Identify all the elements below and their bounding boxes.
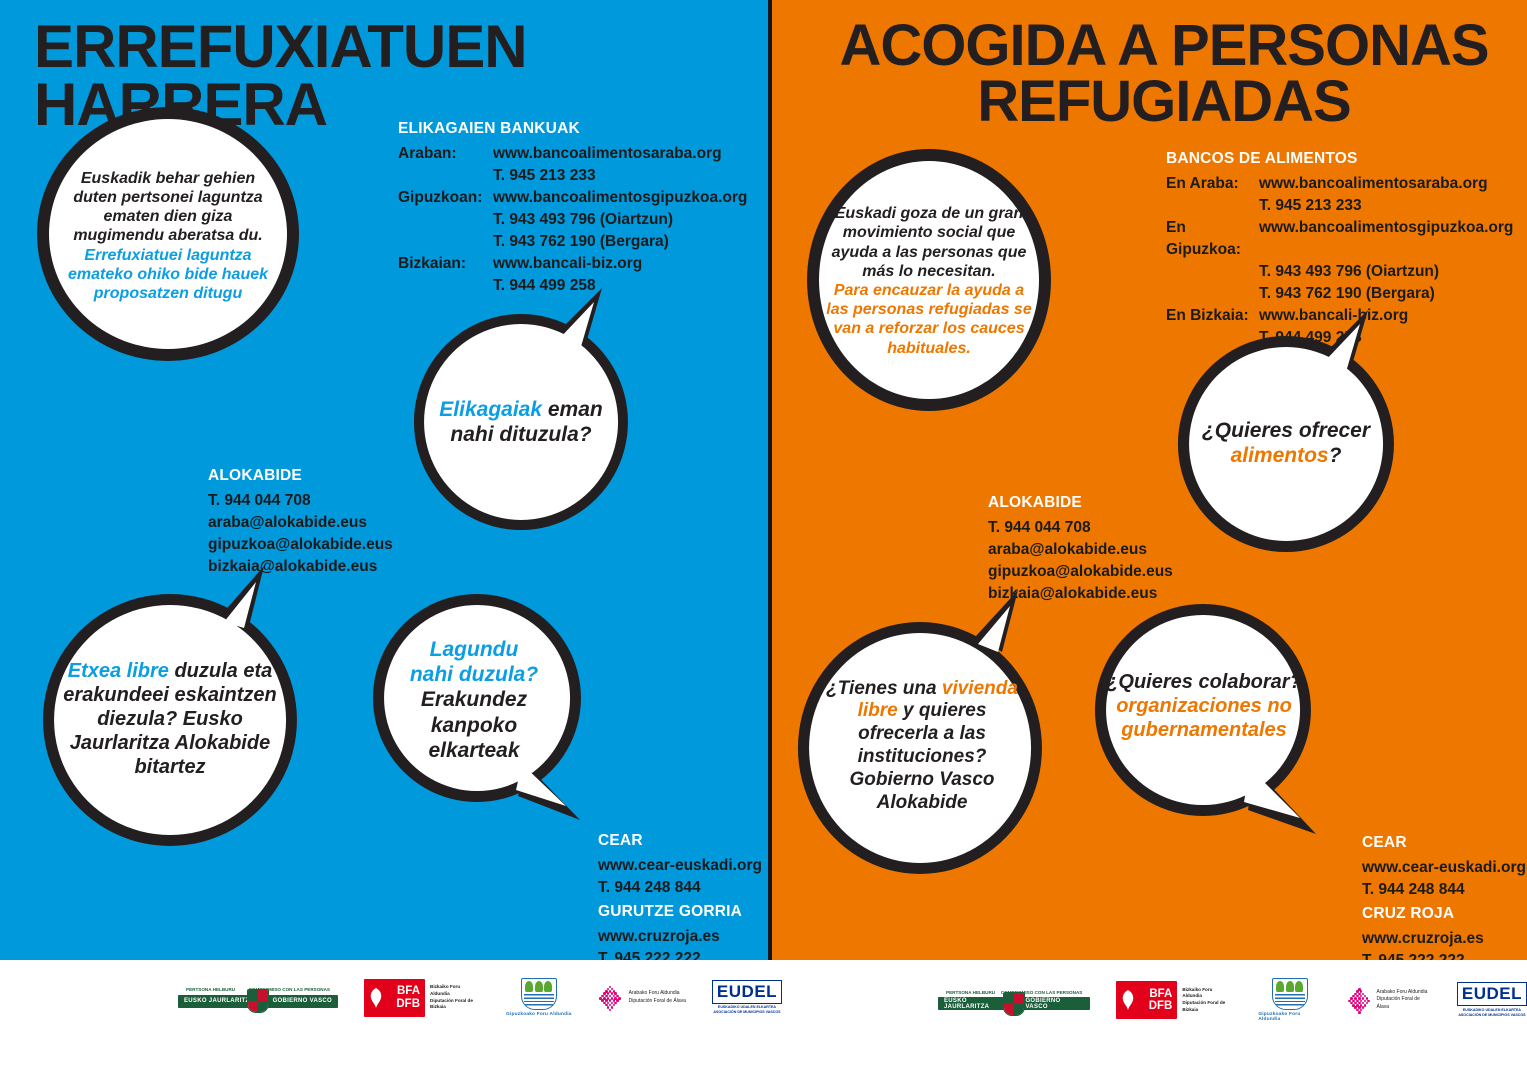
housing-accent: Etxea libre [68, 660, 169, 682]
gipuzkoa-caption: Gipuzkoako Foru Aldundia [1258, 1012, 1321, 1022]
contact-row: Bizkaian: www.bancali-biz.org [398, 253, 758, 275]
logo-strip-left: PERTSONA HELBURU COMPROMISO CON LAS PERS… [178, 978, 782, 1017]
alokabide-phone: T. 944 044 708 [208, 490, 393, 512]
cear-contacts-spanish: CEAR www.cear-euskadi.org T. 944 248 844… [1362, 832, 1526, 960]
redcross-phone: T. 945 222 222 [1362, 950, 1526, 960]
contact-url[interactable]: www.bancali-biz.org [1259, 305, 1527, 327]
food-bubble-plain: ¿Quieres ofrecer [1202, 418, 1370, 443]
poster-root: ERREFUXIATUEN HARRERA Euskadik behar geh… [0, 0, 1527, 1080]
contact-row: En Bizkaia: www.bancali-biz.org [1166, 305, 1527, 327]
contact-url[interactable]: www.bancoalimentosaraba.org [1259, 173, 1527, 195]
contact-phone: T. 943 762 190 (Bergara) [398, 231, 758, 253]
bfa-mark-text: BFA DFB [1149, 988, 1173, 1012]
contact-label: En Araba: [1166, 173, 1259, 195]
eudel-sub-2: ASOCIACIÓN DE MUNICIPIOS VASCOS [713, 1010, 780, 1015]
food-bubble-line2: nahi dituzula? [450, 422, 591, 447]
intro-bubble-spanish: Euskadi goza de un gran movimiento socia… [804, 146, 1054, 414]
bfa-mark-icon: BFA DFB [1116, 981, 1177, 1019]
contact-phone: T. 943 493 796 (Oiartzun) [1166, 261, 1527, 283]
alokabide-email-gipuzkoa[interactable]: gipuzkoa@alokabide.eus [208, 534, 393, 556]
logo-gipuzkoa: Gipuzkoako Foru Aldundia [1258, 978, 1321, 1022]
food-bank-contacts-spanish: BANCOS DE ALIMENTOS En Araba: www.bancoa… [1166, 148, 1527, 349]
help-bubble-basque: Lagundu nahi duzula? Erakundez kanpoko e… [370, 588, 594, 830]
food-bank-title: ELIKAGAIEN BANKUAK [398, 118, 758, 140]
housing-plain: duzula [169, 660, 238, 682]
contact-phone: T. 944 499 258 [398, 275, 758, 297]
intro-text-plain: Euskadik behar gehien duten pertsonei la… [58, 169, 278, 246]
housing-bubble-basque: Etxea libre duzula eta erakundeei eskain… [32, 582, 308, 844]
araba-line-1: Arabako Foru Aldundia [629, 990, 686, 998]
logo-ej-bar-right: GOBIERNO VASCO [1019, 998, 1090, 1010]
intro-text-accent: Para encauzar la ayuda a las personas re… [824, 281, 1034, 358]
food-bubble-basque: Elikagaiak eman nahi dituzula? [406, 306, 636, 538]
alokabide-email-araba[interactable]: araba@alokabide.eus [208, 512, 393, 534]
help-bubble-spanish: ¿Quieres colaborar? organizaciones no gu… [1092, 598, 1324, 846]
bfa-line-1: Bizkaiko Foru Aldundia [430, 984, 480, 997]
cear-url[interactable]: www.cear-euskadi.org [1362, 857, 1526, 879]
cear-url[interactable]: www.cear-euskadi.org [598, 855, 762, 877]
contact-label: Araban: [398, 143, 493, 165]
alokabide-email-bizkaia[interactable]: bizkaia@alokabide.eus [208, 556, 393, 578]
food-bubble-line2: alimentos? [1231, 443, 1342, 468]
logo-strip-right: PERTSONA HELBURU COMPROMISO CON LAS PERS… [938, 978, 1527, 1022]
alokabide-contacts-spanish: ALOKABIDE T. 944 044 708 araba@alokabide… [988, 492, 1173, 605]
contact-phone: T. 945 213 233 [398, 165, 758, 187]
food-bubble-tail: ? [1329, 444, 1342, 467]
logo-gipuzkoa: Gipuzkoako Foru Aldundia [506, 978, 572, 1017]
basque-shield-icon [247, 989, 269, 1013]
contact-label: En Bizkaia: [1166, 305, 1259, 327]
basque-shield-icon [1003, 992, 1025, 1016]
food-bubble-line1: Elikagaiak eman [439, 397, 602, 422]
gipuzkoa-shield-icon [1272, 978, 1308, 1010]
logo-bizkaia: BFA DFB Bizkaiko Foru Aldundia Diputació… [364, 979, 480, 1017]
intro-text-accent: Errefuxiatuei laguntza emateko ohiko bid… [58, 246, 278, 304]
logo-eudel: EUDEL EUSKADIKO UDALEN ELKARTEA ASOCIACI… [712, 980, 782, 1016]
help-accent-1: organizaciones no [1116, 694, 1292, 718]
contact-phone: T. 945 213 233 [1166, 195, 1527, 217]
intro-text-plain: Euskadi goza de un gran movimiento socia… [824, 204, 1034, 281]
contact-label: Bizkaian: [398, 253, 493, 275]
logo-eusko-jaurlaritza: PERTSONA HELBURU COMPROMISO CON LAS PERS… [938, 990, 1090, 1011]
logo-bizkaia: BFA DFB Bizkaiko Foru Aldundia Diputació… [1116, 981, 1232, 1019]
housing-bubble-text: ¿Tienes una vivienda libre y quieres ofr… [816, 678, 1028, 815]
footer: PERTSONA HELBURU COMPROMISO CON LAS PERS… [0, 960, 1527, 1080]
eudel-mark: EUDEL [1462, 984, 1522, 1003]
redcross-title: CRUZ ROJA [1362, 903, 1526, 925]
araba-line-1: Arabako Foru Aldundia [1377, 989, 1431, 997]
contact-phone: T. 943 762 190 (Bergara) [1166, 283, 1527, 305]
help-accent-2: nahi duzula? [410, 662, 538, 687]
contact-url[interactable]: www.bancoalimentosgipuzkoa.org [493, 187, 758, 209]
bfa-mark-text: BFA DFB [396, 985, 420, 1009]
araba-dots-icon [598, 983, 624, 1013]
panel-basque: ERREFUXIATUEN HARRERA Euskadik behar geh… [0, 0, 768, 960]
housing-bubble-text: Etxea libre duzula eta erakundeei eskain… [54, 659, 286, 779]
eudel-sub-2: ASOCIACIÓN DE MUNICIPIOS VASCOS [1458, 1013, 1525, 1018]
redcross-url[interactable]: www.cruzroja.es [598, 926, 762, 948]
logo-araba: Arabako Foru Aldundia Diputación Foral d… [598, 983, 686, 1013]
help-accent-1: Lagundu [430, 637, 519, 662]
logo-ej-top-left: PERTSONA HELBURU [186, 987, 235, 993]
cear-title: CEAR [1362, 832, 1526, 854]
araba-dots-icon [1347, 985, 1372, 1015]
headline-line-1: ACOGIDA A PERSONAS [804, 18, 1524, 74]
eudel-mark: EUDEL [717, 982, 777, 1001]
alokabide-email-gipuzkoa[interactable]: gipuzkoa@alokabide.eus [988, 561, 1173, 583]
bfa-line-1: Bizkaiko Foru Aldundia [1182, 987, 1232, 1000]
help-plain-1: Erakundez [421, 687, 527, 712]
contact-row: Gipuzkoan: www.bancoalimentosgipuzkoa.or… [398, 187, 758, 209]
araba-line-2: Diputación Foral de Álava [629, 998, 686, 1006]
redcross-url[interactable]: www.cruzroja.es [1362, 928, 1526, 950]
contact-url[interactable]: www.bancali-biz.org [493, 253, 758, 275]
headline-line-2: REFUGIADAS [804, 74, 1524, 130]
contact-url[interactable]: www.bancoalimentosaraba.org [493, 143, 758, 165]
contact-row: Araban: www.bancoalimentosaraba.org [398, 143, 758, 165]
help-plain-3: elkarteak [428, 738, 519, 763]
alokabide-phone: T. 944 044 708 [988, 517, 1173, 539]
alokabide-title: ALOKABIDE [988, 492, 1173, 514]
help-plain-2: kanpoko [431, 713, 517, 738]
food-bubble-plain: eman [542, 398, 603, 421]
logo-eusko-jaurlaritza: PERTSONA HELBURU COMPROMISO CON LAS PERS… [178, 987, 338, 1008]
headline-spanish: ACOGIDA A PERSONAS REFUGIADAS [804, 18, 1524, 129]
bfa-mark-icon: BFA DFB [364, 979, 425, 1017]
cear-title: CEAR [598, 830, 762, 852]
gipuzkoa-caption: Gipuzkoako Foru Aldundia [506, 1012, 572, 1017]
bfa-line-2: Diputación Foral de Bizkaia [430, 998, 480, 1011]
panel-spanish: ACOGIDA A PERSONAS REFUGIADAS Euskadi go… [772, 0, 1527, 960]
redcross-phone: T. 945 222 222 [598, 948, 762, 960]
contact-label: Gipuzkoan: [398, 187, 493, 209]
food-bubble-accent: Elikagaiak [439, 398, 542, 421]
cear-contacts-basque: CEAR www.cear-euskadi.org T. 944 248 844… [598, 830, 762, 960]
food-bubble-spanish: ¿Quieres ofrecer alimentos? [1170, 328, 1402, 560]
logo-ej-top-left: PERTSONA HELBURU [946, 990, 995, 996]
housing-bubble-spanish: ¿Tienes una vivienda libre y quieres ofr… [796, 608, 1056, 876]
intro-bubble-basque: Euskadik behar gehien duten pertsonei la… [34, 104, 302, 364]
contact-label: En Gipuzkoa: [1166, 217, 1259, 261]
contact-row: En Gipuzkoa: www.bancoalimentosgipuzkoa.… [1166, 217, 1527, 261]
logo-eudel: EUDEL EUSKADIKO UDALEN ELKARTEA ASOCIACI… [1457, 982, 1527, 1018]
redcross-title: GURUTZE GORRIA [598, 901, 762, 923]
cear-phone: T. 944 248 844 [1362, 879, 1526, 901]
logo-araba: Arabako Foru Aldundia Diputación Foral d… [1347, 985, 1431, 1015]
food-bank-contacts-basque: ELIKAGAIEN BANKUAK Araban: www.bancoalim… [398, 118, 758, 297]
help-accent-2: gubernamentales [1121, 718, 1287, 742]
contact-url[interactable]: www.bancoalimentosgipuzkoa.org [1259, 217, 1527, 261]
food-bubble-accent: alimentos [1231, 444, 1329, 467]
araba-line-2: Diputación Foral de Álava [1377, 996, 1431, 1011]
bfa-line-2: Diputación Foral de Bizkaia [1182, 1000, 1232, 1013]
food-bank-title: BANCOS DE ALIMENTOS [1166, 148, 1527, 170]
contact-row: En Araba: www.bancoalimentosaraba.org [1166, 173, 1527, 195]
logo-ej-bar-right: GOBIERNO VASCO [267, 998, 338, 1004]
alokabide-title: ALOKABIDE [208, 465, 393, 487]
housing-plain-1: ¿Tienes una [826, 678, 937, 699]
alokabide-contacts-basque: ALOKABIDE T. 944 044 708 araba@alokabide… [208, 465, 393, 578]
gipuzkoa-shield-icon [521, 978, 557, 1010]
eudel-sub-1: EUSKADIKO UDALEN ELKARTEA [1458, 1008, 1525, 1013]
cear-phone: T. 944 248 844 [598, 877, 762, 899]
alokabide-email-araba[interactable]: araba@alokabide.eus [988, 539, 1173, 561]
contact-phone: T. 943 493 796 (Oiartzun) [398, 209, 758, 231]
help-plain: ¿Quieres colaborar? [1106, 670, 1302, 694]
